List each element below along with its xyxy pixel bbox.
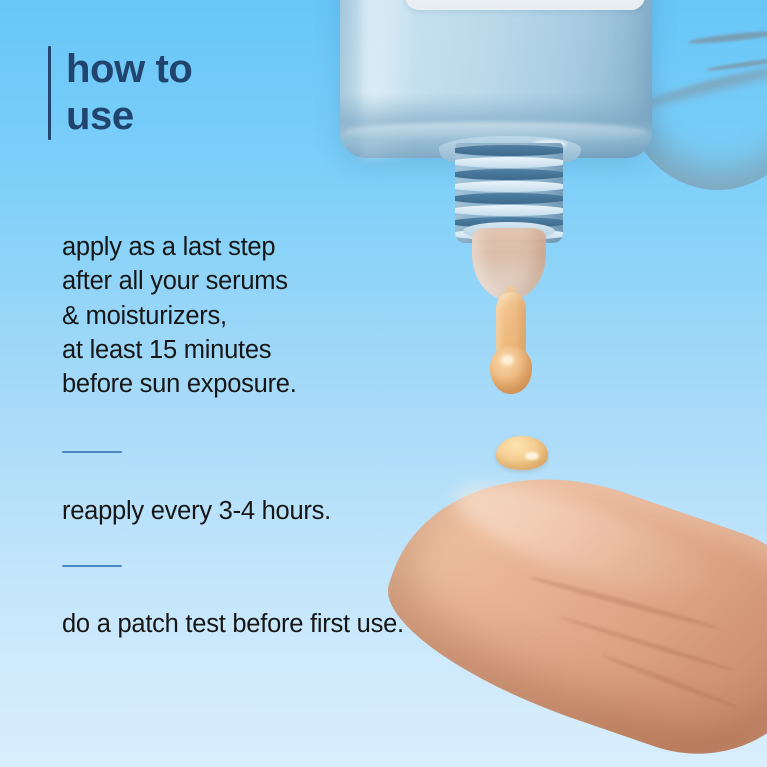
section-divider [62,451,122,453]
knuckle-crease [688,29,767,46]
knuckle-crease [706,56,767,73]
droplet-bulb [490,346,532,394]
heading-text: how to use [66,46,192,140]
section-divider [62,565,122,567]
instruction-apply: apply as a last step after all your seru… [62,230,297,401]
neck-thread [455,181,563,192]
finger-crease [600,653,738,710]
neck-thread [455,157,563,168]
how-to-use-poster: 50 g℮1.76 oz. how to [0,0,767,767]
neck-thread [455,169,563,180]
cream-dollop [496,436,548,470]
instruction-reapply: reapply every 3-4 hours. [62,494,331,528]
neck-thread [455,205,563,216]
heading-accent-rule [48,46,51,140]
product-label: 50 g℮1.76 oz. [405,0,645,10]
instructions-column: how to use apply as a last step after al… [0,0,420,767]
instruction-patch-test: do a patch test before first use. [62,607,404,641]
index-finger [367,430,767,767]
neck-thread [455,193,563,204]
neck-thread [455,145,563,156]
page-heading: how to use [48,46,192,140]
